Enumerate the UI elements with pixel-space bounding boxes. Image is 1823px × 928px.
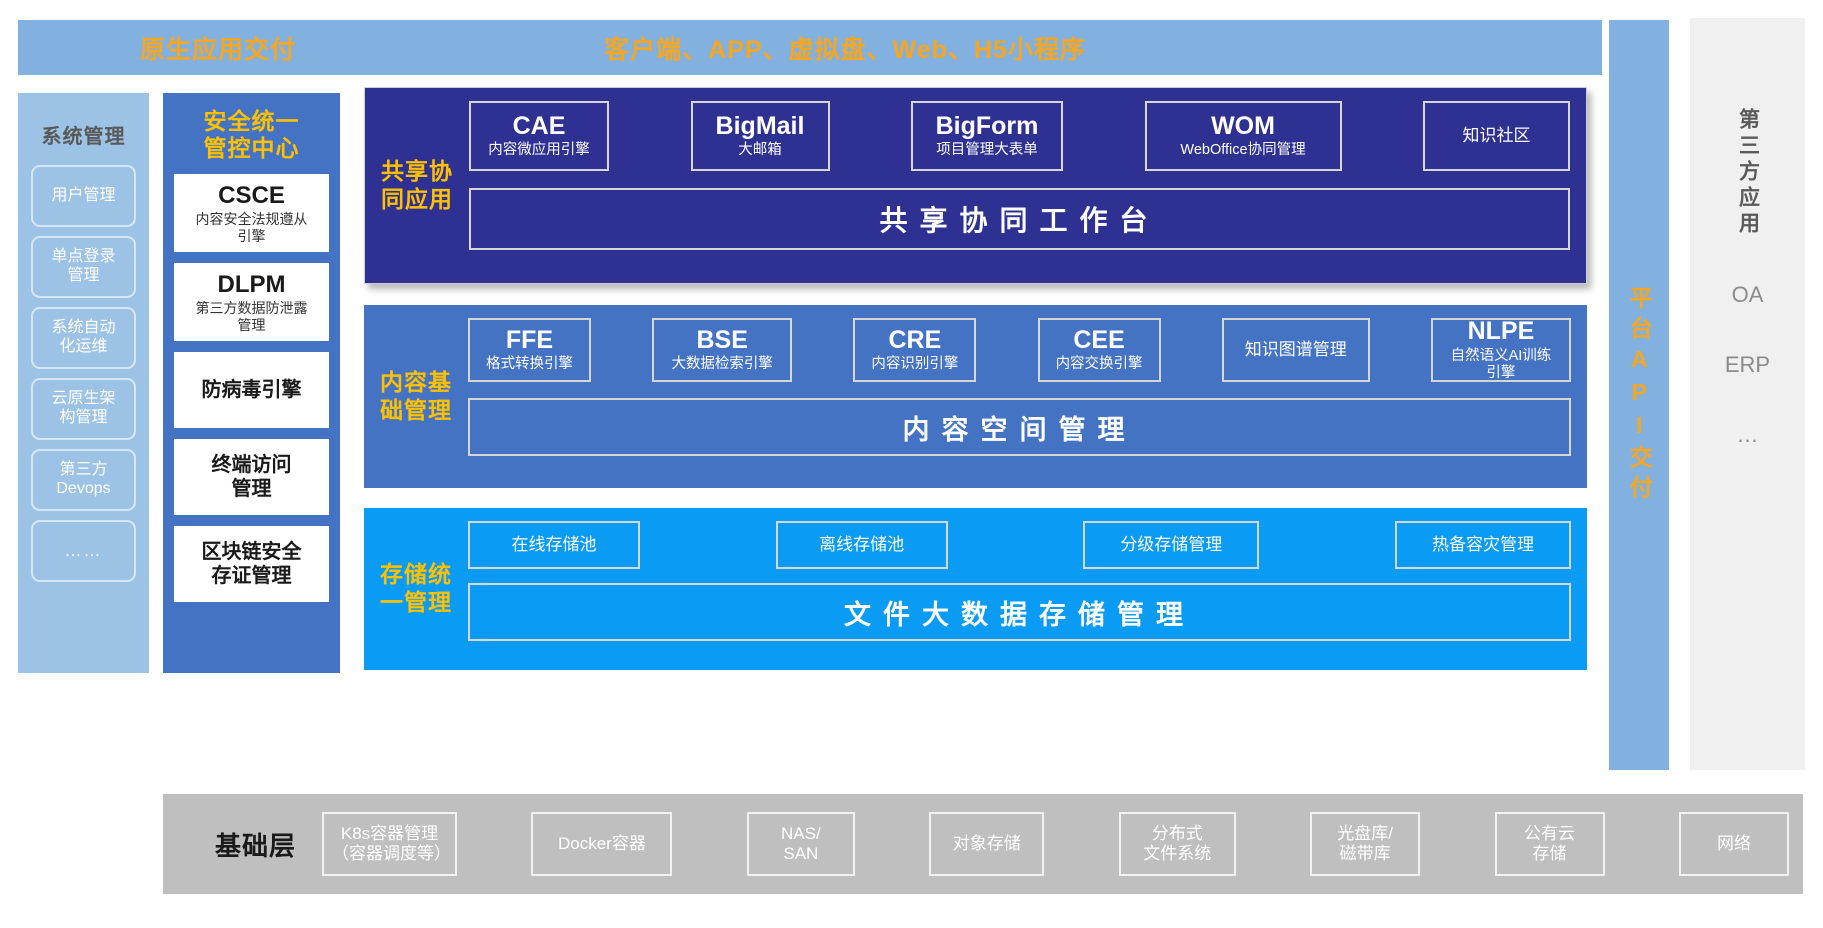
tile-ffe[interactable]: FFE 格式转换引擎 — [468, 318, 591, 382]
tile-knowledge-graph-label: 知识图谱管理 — [1245, 340, 1347, 360]
system-management-title: 系统管理 — [42, 120, 126, 149]
shared-collaboration-label: 共享协同应用 — [371, 158, 463, 213]
content-space-management-bar[interactable]: 内容空间管理 — [468, 398, 1571, 456]
third-party-apps-column: 第三方应用 OA ERP … — [1690, 18, 1805, 770]
tile-cee-abbr: CEE — [1073, 327, 1124, 355]
tile-hot-backup-dr-management[interactable]: 热备容灾管理 — [1395, 521, 1571, 569]
infra-tile-distributed-fs[interactable]: 分布式文件系统 — [1119, 812, 1236, 876]
shared-collaboration-workbench[interactable]: 共享协同工作台 — [469, 188, 1570, 250]
unified-storage-band: 存储统一管理 在线存储池 离线存储池 分级存储管理 热备容灾管理 文件大数据存储… — [364, 508, 1587, 670]
tile-wom-desc: WebOffice协同管理 — [1180, 142, 1305, 159]
tile-tiered-storage-management[interactable]: 分级存储管理 — [1083, 521, 1259, 569]
third-party-item-erp: ERP — [1725, 352, 1770, 378]
tile-online-storage-pool[interactable]: 在线存储池 — [468, 521, 640, 569]
sidebar-item-automated-ops[interactable]: 系统自动化运维 — [31, 307, 136, 369]
tile-nlpe-abbr: NLPE — [1468, 318, 1535, 346]
tile-cre-desc: 内容识别引擎 — [871, 356, 958, 373]
tile-bse[interactable]: BSE 大数据检索引擎 — [652, 318, 792, 382]
infra-tile-public-cloud-storage[interactable]: 公有云存储 — [1495, 812, 1605, 876]
sidebar-item-user-management[interactable]: 用户管理 — [31, 165, 136, 227]
sidebar-item-third-party-devops[interactable]: 第三方Devops — [31, 449, 136, 511]
infrastructure-layer-title: 基础层 — [215, 826, 296, 863]
shared-collaboration-tiles: CAE 内容微应用引擎 BigMail 大邮箱 BigForm 项目管理大表单 … — [469, 101, 1570, 171]
infra-tile-k8s[interactable]: K8s容器管理（容器调度等） — [322, 812, 457, 876]
tile-bigform-desc: 项目管理大表单 — [936, 142, 1038, 159]
tile-wom[interactable]: WOM WebOffice协同管理 — [1145, 101, 1342, 171]
security-card-csce-desc: 内容安全法规遵从引擎 — [196, 211, 308, 245]
security-card-blockchain-evidence[interactable]: 区块链安全存证管理 — [174, 526, 329, 602]
sidebar-item-cloud-native-arch[interactable]: 云原生架构管理 — [31, 378, 136, 440]
tile-nlpe-desc: 自然语义AI训练引擎 — [1451, 348, 1552, 382]
tile-tiered-storage-management-label: 分级存储管理 — [1120, 535, 1222, 555]
tile-bigmail-abbr: BigMail — [716, 113, 805, 141]
tile-bigform[interactable]: BigForm 项目管理大表单 — [911, 101, 1063, 171]
security-card-dlpm-abbr: DLPM — [218, 271, 286, 299]
tile-bse-desc: 大数据检索引擎 — [671, 356, 773, 373]
content-base-management-band: 内容基础管理 FFE 格式转换引擎 BSE 大数据检索引擎 CRE 内容识别引擎… — [364, 305, 1587, 488]
storage-tiles: 在线存储池 离线存储池 分级存储管理 热备容灾管理 — [468, 521, 1571, 569]
tile-bigform-abbr: BigForm — [936, 113, 1039, 141]
tile-offline-storage-pool-label: 离线存储池 — [819, 535, 904, 555]
content-base-management-label: 内容基础管理 — [370, 369, 462, 424]
tile-nlpe[interactable]: NLPE 自然语义AI训练引擎 — [1431, 318, 1571, 382]
tile-cae-abbr: CAE — [513, 113, 566, 141]
file-bigdata-storage-bar[interactable]: 文件大数据存储管理 — [468, 583, 1571, 641]
native-app-delivery-banner: 原生应用交付 客户端、APP、虚拟盘、Web、H5小程序 — [18, 20, 1602, 75]
tile-knowledge-graph[interactable]: 知识图谱管理 — [1222, 318, 1370, 382]
platform-api-delivery-label: 平台API交付 — [1626, 286, 1652, 505]
security-card-blockchain-evidence-label: 区块链安全存证管理 — [202, 540, 302, 588]
tile-hot-backup-dr-management-label: 热备容灾管理 — [1432, 535, 1534, 555]
tile-cre[interactable]: CRE 内容识别引擎 — [853, 318, 976, 382]
third-party-item-oa: OA — [1732, 282, 1764, 308]
infra-tile-docker[interactable]: Docker容器 — [531, 812, 672, 876]
infra-tile-optical-tape-library[interactable]: 光盘库/磁带库 — [1310, 812, 1420, 876]
security-card-terminal-access-label: 终端访问管理 — [212, 453, 292, 501]
tile-cee-desc: 内容交换引擎 — [1056, 356, 1143, 373]
tile-cre-abbr: CRE — [888, 327, 941, 355]
native-app-delivery-label: 原生应用交付 — [18, 30, 418, 66]
tile-cee[interactable]: CEE 内容交换引擎 — [1038, 318, 1161, 382]
tile-online-storage-pool-label: 在线存储池 — [512, 535, 597, 555]
infra-tile-network[interactable]: 网络 — [1679, 812, 1789, 876]
infra-tile-nas-san[interactable]: NAS/SAN — [747, 812, 855, 876]
tile-bigmail-desc: 大邮箱 — [738, 142, 782, 159]
tile-knowledge-community-label: 知识社区 — [1463, 126, 1531, 146]
tile-ffe-desc: 格式转换引擎 — [486, 356, 573, 373]
security-card-antivirus[interactable]: 防病毒引擎 — [174, 352, 329, 428]
platform-api-delivery-bar: 平台API交付 — [1609, 20, 1669, 770]
security-card-csce-abbr: CSCE — [218, 182, 285, 210]
tile-bigmail[interactable]: BigMail 大邮箱 — [691, 101, 830, 171]
tile-bse-abbr: BSE — [696, 327, 747, 355]
infra-tile-object-storage[interactable]: 对象存储 — [929, 812, 1044, 876]
security-card-dlpm-desc: 第三方数据防泄露管理 — [196, 300, 308, 334]
security-control-center-column: 安全统一管控中心 CSCE 内容安全法规遵从引擎 DLPM 第三方数据防泄露管理… — [163, 93, 340, 673]
third-party-apps-title: 第三方应用 — [1733, 108, 1763, 238]
third-party-item-more: … — [1737, 422, 1759, 448]
security-card-dlpm[interactable]: DLPM 第三方数据防泄露管理 — [174, 263, 329, 341]
tile-offline-storage-pool[interactable]: 离线存储池 — [776, 521, 948, 569]
architecture-diagram: 原生应用交付 客户端、APP、虚拟盘、Web、H5小程序 平台API交付 第三方… — [0, 0, 1823, 928]
tile-knowledge-community[interactable]: 知识社区 — [1423, 101, 1570, 171]
tile-ffe-abbr: FFE — [506, 327, 553, 355]
sidebar-item-more[interactable]: …… — [31, 520, 136, 582]
security-card-terminal-access[interactable]: 终端访问管理 — [174, 439, 329, 515]
security-card-csce[interactable]: CSCE 内容安全法规遵从引擎 — [174, 174, 329, 252]
tile-cae[interactable]: CAE 内容微应用引擎 — [469, 101, 609, 171]
tile-cae-desc: 内容微应用引擎 — [488, 142, 590, 159]
security-control-center-title: 安全统一管控中心 — [204, 108, 300, 162]
unified-storage-label: 存储统一管理 — [370, 561, 462, 616]
client-channels-label: 客户端、APP、虚拟盘、Web、H5小程序 — [418, 30, 1602, 66]
sidebar-item-sso-management[interactable]: 单点登录管理 — [31, 236, 136, 298]
infrastructure-layer-band: 基础层 K8s容器管理（容器调度等） Docker容器 NAS/SAN 对象存储… — [163, 794, 1803, 894]
security-card-antivirus-label: 防病毒引擎 — [202, 378, 302, 402]
shared-collaboration-band: 共享协同应用 CAE 内容微应用引擎 BigMail 大邮箱 BigForm 项… — [364, 87, 1587, 284]
system-management-sidebar: 系统管理 用户管理 单点登录管理 系统自动化运维 云原生架构管理 第三方Devo… — [18, 93, 149, 673]
tile-wom-abbr: WOM — [1211, 113, 1275, 141]
content-base-tiles: FFE 格式转换引擎 BSE 大数据检索引擎 CRE 内容识别引擎 CEE 内容… — [468, 318, 1571, 382]
infrastructure-tiles: K8s容器管理（容器调度等） Docker容器 NAS/SAN 对象存储 分布式… — [322, 812, 1789, 876]
